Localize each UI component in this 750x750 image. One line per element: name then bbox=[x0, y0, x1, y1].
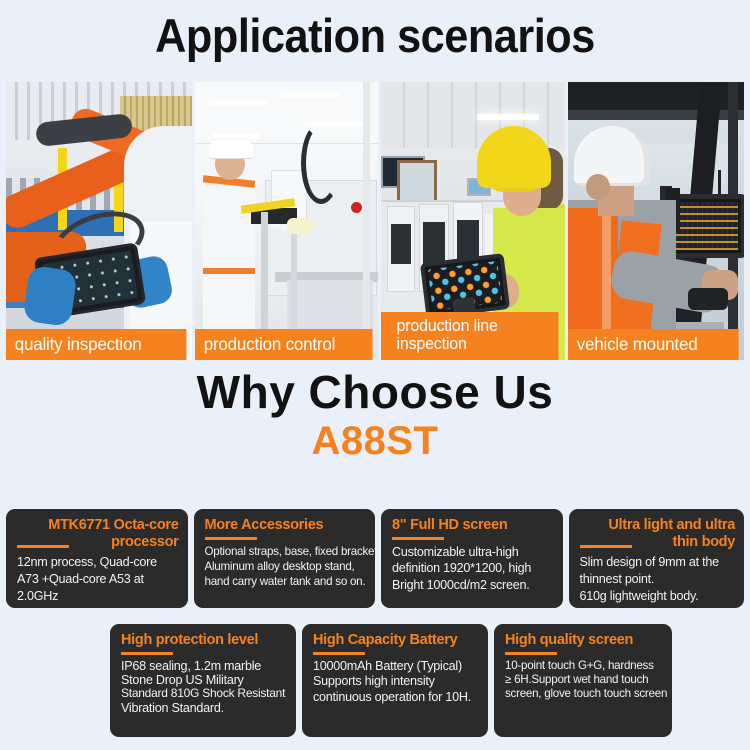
feature-card-processor-body: 12nm process, Quad-core A73 +Quad-core A… bbox=[17, 554, 179, 604]
scenario-photo-strip: quality inspection production control bbox=[6, 82, 744, 360]
accent-rule bbox=[313, 652, 365, 655]
scenario-photo-production-line-inspection: production lineinspection bbox=[381, 82, 564, 360]
feature-card-display-title: 8" Full HD screen bbox=[392, 517, 554, 534]
feature-card-touch-screen: High quality screen 10-point touch G+G, … bbox=[494, 624, 672, 737]
scenario-photo-production-control: production control bbox=[195, 82, 378, 360]
accent-rule bbox=[17, 545, 69, 548]
accent-rule bbox=[392, 537, 444, 540]
page-title: Application scenarios bbox=[30, 0, 720, 68]
feature-card-display-body: Customizable ultra-high definition 1920*… bbox=[392, 544, 554, 594]
feature-card-battery-body: 10000mAh Battery (Typical) Supports high… bbox=[313, 659, 479, 706]
feature-cards-row-2: High protection level IP68 sealing, 1.2m… bbox=[110, 624, 672, 737]
scenario-photo-vehicle-mounted: vehicle mounted bbox=[568, 82, 744, 360]
feature-card-battery: High Capacity Battery 10000mAh Battery (… bbox=[302, 624, 488, 737]
feature-card-battery-title: High Capacity Battery bbox=[313, 632, 479, 649]
why-choose-us-heading: Why Choose Us bbox=[0, 368, 750, 416]
scenario-caption-4: vehicle mounted bbox=[568, 329, 739, 360]
accent-rule bbox=[505, 652, 557, 655]
feature-card-accessories: More Accessories Optional straps, base, … bbox=[194, 509, 376, 608]
robot-arm-scene-illustration bbox=[6, 82, 192, 360]
cleanroom-scene-illustration bbox=[195, 82, 378, 360]
scenario-caption-3-line2: inspection bbox=[397, 335, 467, 353]
accent-rule bbox=[205, 537, 257, 540]
feature-card-protection-title: High protection level bbox=[121, 632, 287, 649]
feature-card-protection: High protection level IP68 sealing, 1.2m… bbox=[110, 624, 296, 737]
product-model-label: A88ST bbox=[0, 418, 750, 464]
forklift-operator-scene-illustration bbox=[568, 82, 744, 360]
scenario-caption-3-line1: production line bbox=[397, 317, 498, 335]
feature-card-protection-body: IP68 sealing, 1.2m marble Stone Drop US … bbox=[121, 659, 287, 716]
accent-rule bbox=[121, 652, 173, 655]
scenario-caption-2: production control bbox=[195, 329, 373, 360]
feature-card-thin-body-body: Slim design of 9mm at the thinnest point… bbox=[580, 554, 736, 604]
feature-card-thin-body: Ultra light and ultra thin body Slim des… bbox=[569, 509, 745, 608]
scenario-caption-1: quality inspection bbox=[6, 329, 187, 360]
scenario-photo-quality-inspection: quality inspection bbox=[6, 82, 192, 360]
accent-rule bbox=[580, 545, 632, 548]
feature-card-touch-screen-title: High quality screen bbox=[505, 632, 663, 649]
why-choose-us-section: Why Choose Us A88ST bbox=[0, 368, 750, 464]
feature-card-display: 8" Full HD screen Customizable ultra-hig… bbox=[381, 509, 563, 608]
feature-card-accessories-title: More Accessories bbox=[205, 517, 367, 534]
feature-card-processor: MTK6771 Octa-core processor 12nm process… bbox=[6, 509, 188, 608]
feature-cards-row-1: MTK6771 Octa-core processor 12nm process… bbox=[6, 509, 744, 608]
feature-card-touch-screen-body: 10-point touch G+G, hardness ≥ 6H.Suppor… bbox=[505, 659, 663, 702]
feature-card-accessories-body: Optional straps, base, fixed bracket Alu… bbox=[205, 544, 367, 590]
scenario-caption-3: production lineinspection bbox=[381, 312, 559, 360]
